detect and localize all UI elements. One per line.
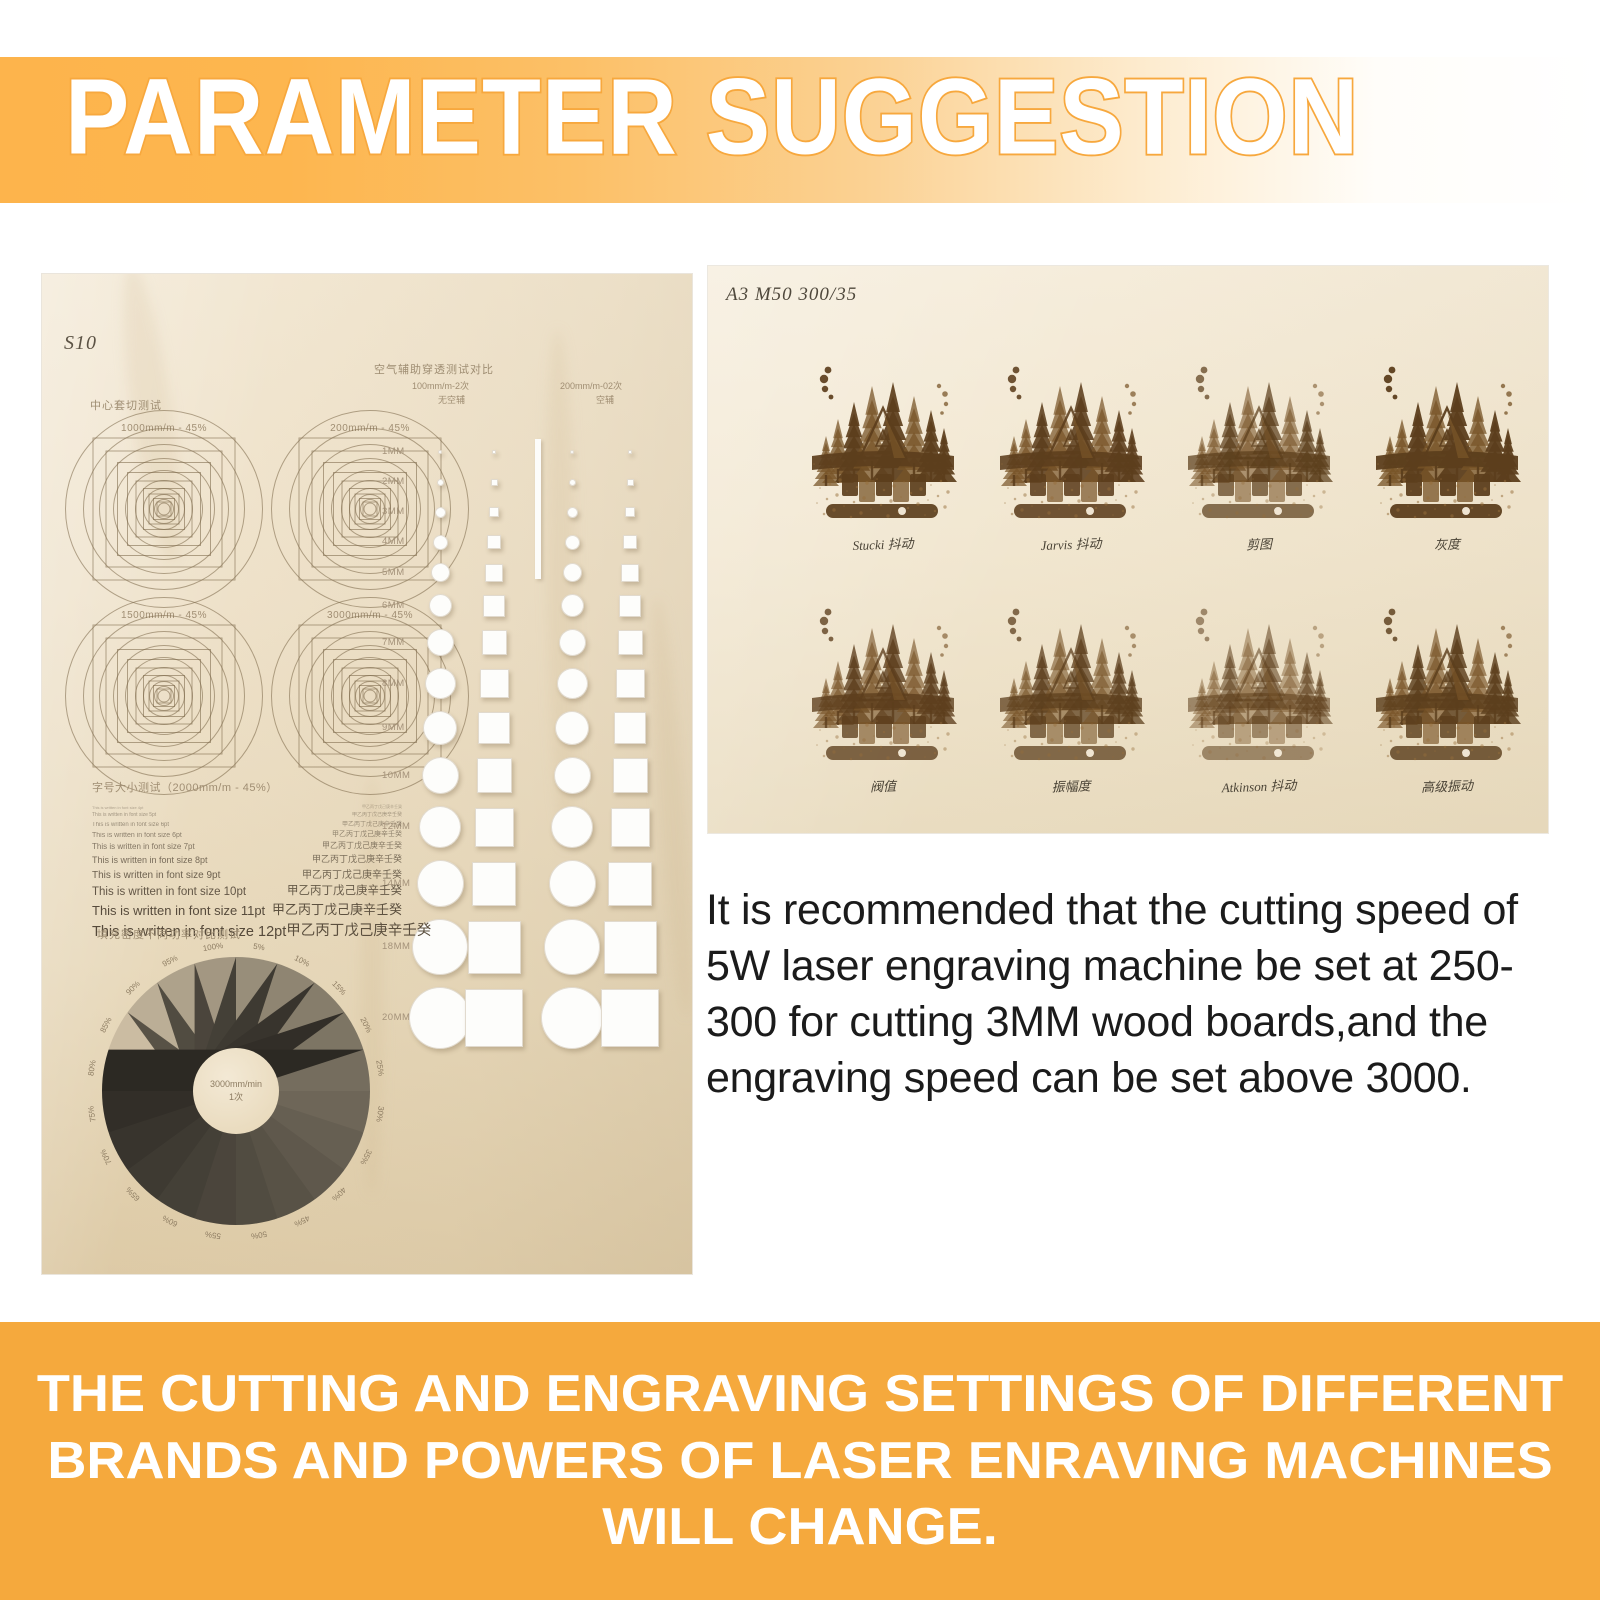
engraved-scene-label: 灰度 (1434, 534, 1461, 554)
engraved-scene-art (798, 566, 968, 771)
hole-circle (569, 479, 576, 486)
power-wheel-percent-label: 50% (250, 1229, 267, 1240)
hole-square (475, 808, 514, 847)
hole-square (614, 712, 646, 744)
hole-circle (559, 629, 586, 656)
hole-grid-row-label: 5MM (382, 567, 405, 578)
power-wheel-disc: 3000mm/min 1次 (102, 957, 370, 1225)
power-wheel-percent-label: 55% (205, 1229, 222, 1240)
hole-circle (563, 563, 582, 582)
hole-square (618, 630, 643, 655)
engraved-scene-label: Stucki 抖动 (852, 533, 914, 554)
hole-circle (427, 629, 454, 656)
nested-pattern-test: 1500mm/m - 45% (64, 596, 264, 796)
hole-square (601, 989, 659, 1047)
hole-circle (409, 987, 471, 1049)
hole-square (480, 669, 509, 698)
hole-square (619, 595, 641, 617)
hole-circle (551, 806, 593, 848)
font-size-test-en: This is written in font size 11pt (92, 903, 265, 918)
font-size-test-en: This is written in font size 6pt (92, 822, 169, 828)
font-size-test-en: This is written in font size 6pt (92, 832, 182, 839)
hole-grid-row: 6MM (382, 588, 682, 623)
font-size-test-en: This is written in font size 7pt (92, 842, 195, 851)
font-size-test-line: This is written in font size 6pt甲乙丙丁戊己庚辛… (92, 829, 402, 839)
section-title-power-wheel: 填充密度不同功率对比测试 (97, 926, 241, 942)
hole-circle (435, 507, 446, 518)
power-wheel-hub: 3000mm/min 1次 (193, 1048, 279, 1134)
font-size-test-line: This is written in font size 9pt甲乙丙丁戊己庚辛… (92, 866, 402, 881)
page-title: PARAMETER SUGGESTION (65, 57, 1359, 180)
hole-circle (431, 563, 450, 582)
bottom-banner: THE CUTTING AND ENGRAVING SETTINGS OF DI… (0, 1322, 1600, 1600)
wheel-hub-passes: 1次 (229, 1091, 243, 1105)
nested-circle (158, 690, 171, 703)
font-size-test-line: This is written in font size 4pt甲乙丙丁戊己庚辛… (92, 804, 402, 810)
hole-grid-column-header: 空辅 (596, 393, 614, 406)
hole-circle (541, 987, 603, 1049)
engraved-scene-art (1362, 566, 1532, 771)
engraved-scene-art (798, 324, 968, 529)
hole-square (468, 921, 521, 974)
font-size-test-cn: 甲乙丙丁戊己庚辛壬癸 (302, 866, 402, 881)
hole-circle (437, 479, 444, 486)
hole-grid-row: 12MM (382, 800, 682, 854)
power-wheel-percent-label: 80% (86, 1060, 97, 1077)
hole-grid-row-label: 6MM (382, 600, 405, 611)
hole-square (492, 450, 496, 454)
hole-square (616, 669, 645, 698)
power-wheel-percent-label: 5% (252, 941, 265, 952)
board-handwritten-note: S10 (64, 332, 97, 355)
font-size-test-en: This is written in font size 9pt (92, 870, 220, 881)
engraved-camping-scene: 剪图 (1174, 324, 1344, 529)
hole-grid-row: 3MM (382, 497, 682, 527)
hole-circle (429, 594, 452, 617)
hole-cut-test-grid: 空气辅助穿透测试对比 100mm/m-2次 无空辅 200mm/m-02次 空辅… (382, 389, 682, 1039)
hole-square (613, 758, 648, 793)
hole-grid-row: 4MM (382, 527, 682, 557)
engraving-board-handwritten-note: A3 M50 300/35 (726, 284, 857, 306)
hole-square (482, 630, 507, 655)
engraved-scene-art (1174, 566, 1344, 771)
hole-square (621, 564, 639, 582)
hole-square (477, 758, 512, 793)
engraved-camping-scene: Jarvis 抖动 (986, 324, 1156, 529)
font-size-test-cn: 甲乙丙丁戊己庚辛壬癸 (322, 840, 402, 851)
hole-circle (555, 711, 589, 745)
hole-grid-row-label: 1MM (382, 446, 405, 457)
hole-circle (423, 711, 457, 745)
engraved-scene-label: Atkinson 抖动 (1221, 775, 1296, 797)
nested-circle (364, 503, 377, 516)
engraved-camping-scene: 阀值 (798, 566, 968, 771)
recommendation-paragraph: It is recommended that the cutting speed… (706, 883, 1566, 1107)
hole-square (478, 712, 510, 744)
header-banner: PARAMETER SUGGESTION (0, 57, 1600, 203)
hole-square (627, 479, 634, 486)
font-size-test-line: This is written in font size 8pt甲乙丙丁戊己庚辛… (92, 852, 402, 865)
hole-grid-column-header: 200mm/m-02次 (560, 379, 622, 392)
font-size-test-en: This is written in font size 4pt (92, 805, 143, 810)
engraved-camping-scene: Atkinson 抖动 (1174, 566, 1344, 771)
engraved-scene-art (986, 566, 1156, 771)
font-size-test-block: 字号大小测试（2000mm/m - 45%） This is written i… (92, 779, 402, 941)
font-size-test-cn: 甲乙丙丁戊己庚辛壬癸 (342, 819, 402, 828)
power-wheel-percent-label: 75% (86, 1105, 97, 1122)
hole-circle (567, 507, 578, 518)
hole-square (604, 921, 657, 974)
hole-circle (557, 668, 588, 699)
section-title-font-size: 字号大小测试（2000mm/m - 45%） (92, 779, 402, 795)
hole-grid-row: 1MM (382, 437, 682, 467)
hole-grid-row: 10MM (382, 751, 682, 800)
hole-square (625, 507, 635, 517)
hole-square (472, 862, 516, 906)
wheel-hub-speed: 3000mm/min (210, 1078, 262, 1092)
hole-grid-row: 2MM (382, 467, 682, 497)
engraved-scene-art (986, 324, 1156, 529)
hole-square (623, 535, 637, 549)
hole-circle (544, 919, 600, 975)
hole-square (491, 479, 498, 486)
font-size-test-cn: 甲乙丙丁戊己庚辛壬癸 (312, 852, 402, 865)
hole-square (485, 564, 503, 582)
font-size-test-cn: 甲乙丙丁戊己庚辛壬癸 (287, 882, 402, 898)
font-size-test-line: This is written in font size 6pt甲乙丙丁戊己庚辛… (92, 819, 402, 828)
power-wheel-percent-label: 25% (374, 1060, 385, 1077)
power-density-wheel: 填充密度不同功率对比测试 3000mm/min 1次 5%10%15%20%25… (87, 924, 387, 1234)
font-size-test-en: This is written in font size 10pt (92, 886, 246, 898)
hole-circle (419, 806, 461, 848)
engraved-scene-art (1362, 324, 1532, 529)
power-wheel-percent-label: 30% (374, 1105, 385, 1122)
font-size-test-cn: 甲乙丙丁戊己庚辛壬癸 (362, 804, 402, 810)
engraved-scene-art (1174, 324, 1344, 529)
engraved-camping-scene: 高级振动 (1362, 566, 1532, 771)
hole-grid-row-label: 2MM (382, 476, 405, 487)
hole-grid-row: 7MM (382, 623, 682, 662)
font-size-test-line: This is written in font size 10pt甲乙丙丁戊己庚… (92, 882, 402, 898)
hole-square (628, 450, 632, 454)
hole-square (487, 535, 501, 549)
engraved-camping-scene: Stucki 抖动 (798, 324, 968, 529)
hole-grid-row-label: 9MM (382, 722, 405, 733)
hole-square (489, 507, 499, 517)
font-size-test-line: This is written in font size 5pt甲乙丙丁戊己庚辛… (92, 811, 402, 818)
hole-circle (561, 594, 584, 617)
hole-grid-column-header: 100mm/m-2次 (412, 379, 469, 392)
hole-grid-row-label: 4MM (382, 536, 405, 547)
engraved-scene-label: Jarvis 抖动 (1040, 533, 1102, 554)
hole-circle (433, 535, 448, 550)
bottom-banner-text: THE CUTTING AND ENGRAVING SETTINGS OF DI… (20, 1361, 1580, 1561)
hole-circle (417, 860, 464, 907)
engraved-scene-label: 振幅度 (1051, 775, 1091, 795)
left-test-board-photo: S10 中心套切测试 1000mm/m - 45% 200mm/m - 45% … (42, 274, 692, 1274)
hole-square (483, 595, 505, 617)
hole-square (608, 862, 652, 906)
hole-grid-row-label: 3MM (382, 506, 405, 517)
font-size-test-cn: 甲乙丙丁戊己庚辛壬癸 (332, 829, 402, 839)
power-wheel-percent-label: 100% (202, 941, 224, 953)
hole-circle (422, 757, 459, 794)
font-size-test-cn: 甲乙丙丁戊己庚辛壬癸 (272, 899, 402, 918)
font-size-test-cn: 甲乙丙丁戊己庚辛壬癸 (352, 811, 402, 818)
engraved-scene-label: 阀值 (870, 776, 897, 796)
font-size-test-en: This is written in font size 8pt (92, 855, 208, 865)
engraved-camping-scene: 振幅度 (986, 566, 1156, 771)
hole-grid-row: 9MM (382, 705, 682, 751)
content-area: S10 中心套切测试 1000mm/m - 45% 200mm/m - 45% … (0, 203, 1600, 1316)
hole-grid-row: 20MM (382, 981, 682, 1055)
nested-pattern-test: 1000mm/m - 45% (64, 409, 264, 609)
hole-square (611, 808, 650, 847)
hole-circle (565, 535, 580, 550)
engraved-scene-label: 剪图 (1246, 534, 1273, 554)
engraved-scene-label: 高级振动 (1421, 775, 1474, 796)
section-title-hole-grid: 空气辅助穿透测试对比 (374, 361, 494, 377)
engraved-camping-scene: 灰度 (1362, 324, 1532, 529)
hole-grid-row: 8MM (382, 662, 682, 705)
right-engraving-board-photo: A3 M50 300/35 Stucki 抖动Jarvis 抖动剪图灰度阀值振幅… (708, 266, 1548, 833)
hole-circle (570, 450, 574, 454)
nested-circle (364, 690, 377, 703)
hole-grid-row: 14MM (382, 854, 682, 913)
hole-circle (425, 668, 456, 699)
font-size-test-line: This is written in font size 7pt甲乙丙丁戊己庚辛… (92, 840, 402, 851)
hole-circle (549, 860, 596, 907)
hole-circle (438, 450, 442, 454)
hole-grid-row-label: 7MM (382, 637, 405, 648)
nested-circle (158, 503, 171, 516)
font-size-test-en: This is written in font size 5pt (92, 812, 156, 818)
font-size-test-line: This is written in font size 11pt甲乙丙丁戊己庚… (92, 899, 402, 918)
hole-grid-row: 5MM (382, 557, 682, 588)
hole-grid-row-label: 8MM (382, 678, 405, 689)
hole-circle (554, 757, 591, 794)
hole-square (465, 989, 523, 1047)
hole-grid-column-header: 无空辅 (438, 393, 465, 406)
